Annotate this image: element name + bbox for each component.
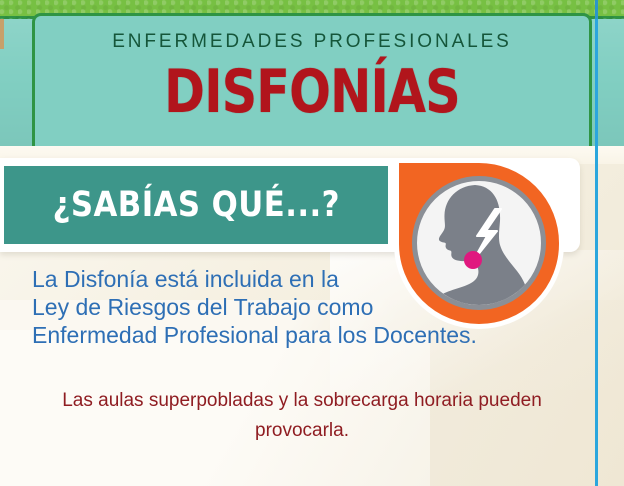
right-blue-rule — [595, 0, 598, 486]
poster-kicker: ENFERMEDADES PROFESIONALES — [0, 31, 624, 53]
did-you-know-banner-label-wrap: ¿SABÍAS QUÉ...? — [4, 166, 388, 244]
blue-paragraph-line-2: Ley de Riesgos del Trabajo como — [32, 293, 552, 321]
poster-title: DISFONÍAS — [56, 62, 568, 122]
poster-canvas: ENFERMEDADES PROFESIONALES DISFONÍAS ¿SA… — [0, 0, 624, 486]
did-you-know-banner-label: ¿SABÍAS QUÉ...? — [52, 185, 339, 225]
blue-paragraph-line-3: Enfermedad Profesional para los Docentes… — [32, 321, 552, 349]
red-paragraph: Las aulas superpobladas y la sobrecarga … — [52, 386, 552, 446]
blue-paragraph: La Disfonía está incluida en la Ley de R… — [32, 265, 552, 349]
blue-paragraph-line-1: La Disfonía está incluida en la — [32, 265, 552, 293]
right-blue-rule-top — [595, 0, 598, 19]
